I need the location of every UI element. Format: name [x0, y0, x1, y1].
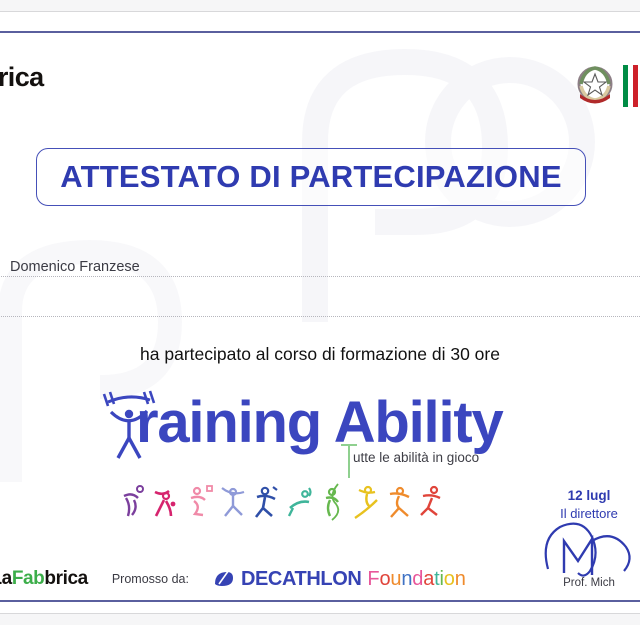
page-gap-bottom — [0, 613, 640, 625]
sport-pictogram-bowling-icon — [185, 482, 215, 522]
lafabbrica-accent: Fab — [12, 568, 45, 589]
recipient-name-dotted-line — [0, 276, 640, 277]
sport-pictogram-skiing-icon — [351, 482, 381, 522]
certificate-top-rule — [0, 31, 640, 33]
decathlon-foundation-logo: DECATHLON Foundation — [213, 568, 466, 591]
foundation-wordmark: Foundation — [367, 568, 465, 591]
sport-pictogram-climbing-icon — [318, 482, 348, 522]
sport-pictogram-baseball-icon — [151, 482, 181, 522]
training-ability-tagline: utte le abilità in gioco — [353, 450, 479, 465]
recipient-secondary-field — [0, 303, 640, 317]
recipient-secondary-dotted-line — [0, 316, 640, 317]
sport-pictogram-running-icon — [418, 482, 448, 522]
page-gap-top — [0, 0, 640, 12]
decathlon-wordmark: DECATHLON — [241, 568, 361, 591]
certificate-page: brica MI Ministero e del M — [0, 12, 640, 613]
participation-statement: ha partecipato al corso di formazione di… — [0, 344, 640, 365]
recipient-name-field: Domenico Franzese — [0, 255, 640, 277]
lafabbrica-suffix: brica — [44, 568, 87, 589]
certificate-title-box: ATTESTATO DI PARTECIPAZIONE — [36, 148, 586, 206]
page-title: ATTESTATO DI PARTECIPAZIONE — [60, 159, 561, 195]
sport-pictogram-gymnastics-icon — [118, 482, 148, 522]
lafabbrica-prefix: La — [0, 568, 12, 589]
training-ability-logo: raining Ability utte le abilità in gioco — [98, 386, 530, 482]
sport-pictogram-fencing-icon — [218, 482, 248, 522]
italian-republic-emblem-icon — [574, 62, 616, 110]
italian-flag-bar-icon — [623, 65, 638, 107]
sport-pictogram-boxing-icon — [251, 482, 281, 522]
sport-pictogram-swimming-icon — [285, 482, 315, 522]
certificate-date: 12 lugl — [504, 488, 640, 503]
promoted-by-label: Promosso da: — [112, 572, 189, 586]
realized-by-credit: a: LaFabbrica — [0, 568, 88, 590]
lafabbrica-logo-visible-text: brica — [0, 62, 44, 92]
certificate-footer: a: LaFabbrica Promosso da: DECATHLON Fou… — [0, 564, 640, 594]
sport-pictogram-archery-icon — [385, 482, 415, 522]
certificate-bottom-rule — [0, 600, 640, 602]
certificate-header: brica MI Ministero e del M — [0, 46, 640, 118]
lafabbrica-footer-logo: LaFabbrica — [0, 568, 88, 590]
sport-pictogram-row — [118, 478, 448, 522]
pdf-viewer: brica MI Ministero e del M — [0, 0, 640, 624]
ministero-logo: MI Ministero e del M — [574, 58, 640, 113]
training-ability-wordmark: raining Ability — [136, 394, 503, 452]
decathlon-mark-icon — [213, 568, 235, 590]
tagline-t-stem-icon — [348, 444, 350, 478]
lafabbrica-logo: brica — [0, 62, 44, 93]
recipient-name: Domenico Franzese — [10, 259, 140, 275]
